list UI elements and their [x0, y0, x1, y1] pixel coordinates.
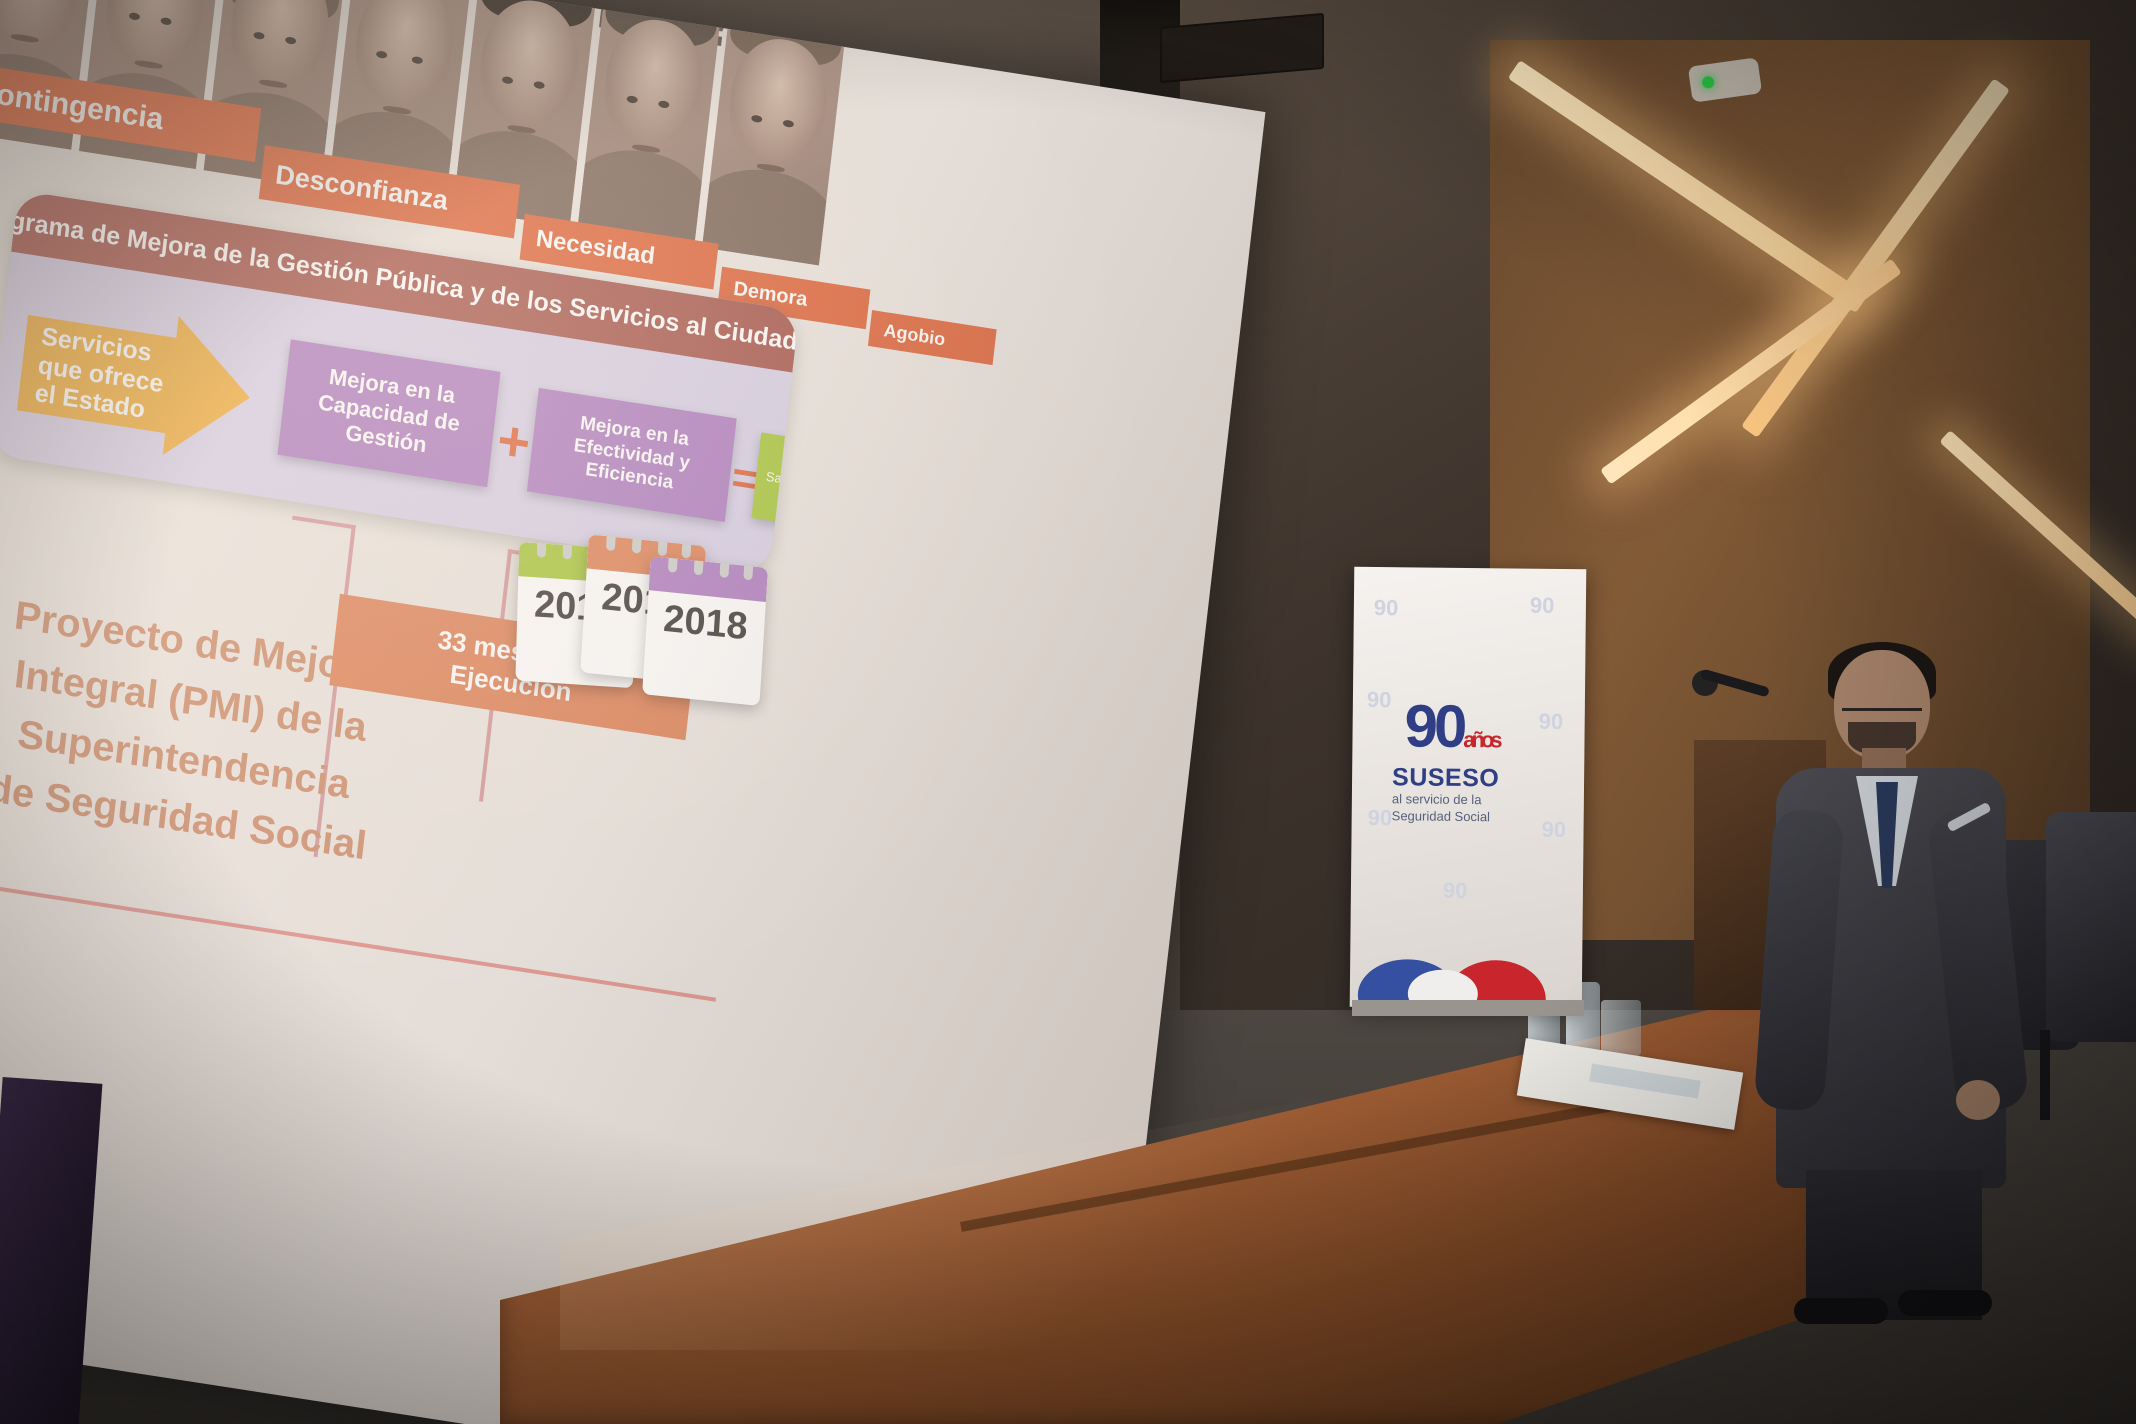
calendar-year: 2018 [646, 596, 766, 651]
photo-scene: amos? [0, 0, 2136, 1424]
calendar-icon-2018: 2018 [642, 556, 768, 706]
banner-anniversary-number: 90 [1404, 692, 1463, 760]
box-line-3: Ciudadanos [763, 485, 799, 518]
watermark-90: 90 [1541, 817, 1566, 843]
banner-tagline: al servicio de la Seguridad Social [1392, 791, 1491, 826]
face-label-agobio: Agobio [868, 310, 997, 365]
watermark-90: 90 [1539, 709, 1564, 735]
banner-tagline-line-1: al servicio de la [1392, 791, 1490, 809]
glass-icon [1601, 1000, 1641, 1056]
plus-operator-icon: + [494, 406, 534, 476]
banner-anniversary-suffix: años [1463, 727, 1499, 752]
chair-leg [2040, 1030, 2050, 1120]
chair [2046, 812, 2136, 1042]
banner-organization: SUSESO [1392, 763, 1500, 793]
box-capacidad-gestion: Mejora en la Capacidad de Gestión [278, 339, 501, 487]
watermark-90: 90 [1530, 593, 1555, 619]
slide-underline [0, 878, 716, 1001]
services-arrow: Servicios que ofrece el Estado [14, 293, 258, 467]
glasses-icon [1842, 692, 1922, 711]
banner-anniversary-logo: 90años [1404, 691, 1499, 761]
watermark-90: 90 [1374, 595, 1399, 621]
suseso-rollup-banner: 90 90 90 90 90 90 90 90años SUSESO al se… [1350, 567, 1587, 1009]
box-satisfaccion-ciudadanos: Mejora de la Satisfacción de los Ciudada… [751, 432, 799, 537]
watermark-90: 90 [1367, 687, 1392, 713]
banner-tagline-line-2: Seguridad Social [1392, 808, 1490, 826]
services-arrow-label: Servicios que ofrece el Estado [17, 320, 191, 431]
box-efectividad-eficiencia: Mejora en la Efectividad y Eficiencia [527, 388, 737, 522]
watermark-90: 90 [1443, 878, 1468, 904]
banner-base [1352, 1000, 1584, 1016]
presenter [1770, 650, 2020, 1290]
watermark-90: 90 [1368, 805, 1393, 831]
